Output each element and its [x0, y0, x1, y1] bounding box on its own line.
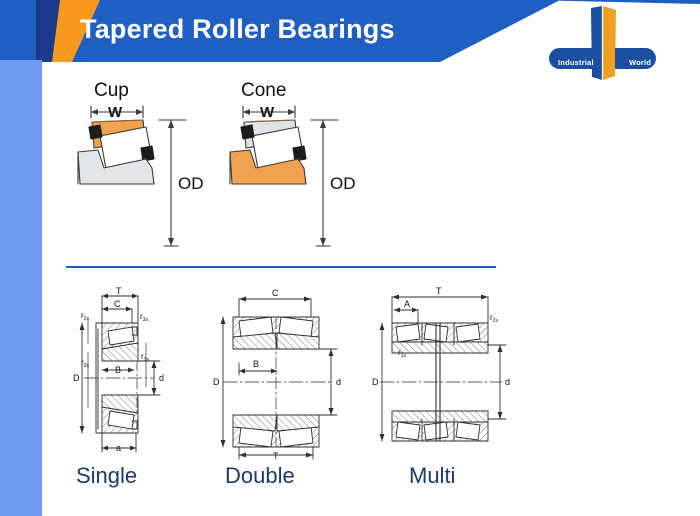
- figure-cup: W OD: [60, 96, 220, 256]
- left-color-band: [0, 60, 42, 516]
- label-d-outer-double: D: [213, 377, 220, 387]
- label-w-cup: W: [108, 104, 123, 121]
- label-c-single: C: [114, 299, 121, 309]
- label-b-double: B: [253, 359, 259, 369]
- label-r2s-multi: r2s: [490, 313, 498, 324]
- label-d-outer-single: D: [73, 373, 80, 383]
- figure-caption-multi: Multi: [409, 463, 455, 489]
- label-t-double: T: [273, 451, 279, 461]
- label-a-single: a: [116, 443, 121, 453]
- figure-caption-single: Single: [76, 463, 137, 489]
- cage-block-left: [89, 125, 102, 139]
- label-t-single: T: [116, 286, 122, 296]
- logo-label-industrial: Industrial: [558, 58, 594, 67]
- dimension-c-double: [239, 297, 311, 318]
- figure-multi: T A D d r2s r1s: [368, 283, 518, 463]
- label-d-bore-multi: d: [505, 377, 510, 387]
- cage-block-right: [141, 146, 154, 161]
- cage-block-left: [241, 125, 254, 139]
- label-t-multi: T: [436, 286, 442, 296]
- roller-bottom-3: [456, 422, 480, 440]
- figure-double: C B D d T: [207, 283, 347, 463]
- label-od-cone: OD: [330, 174, 356, 193]
- figure-cone: W OD: [212, 96, 372, 256]
- page-title: Tapered Roller Bearings: [80, 14, 395, 45]
- slide-root: Tapered Roller Bearings Industrial World…: [0, 0, 700, 516]
- logo-label-world: World: [629, 58, 651, 67]
- label-d-bore-double: d: [336, 377, 341, 387]
- cage-block-right: [293, 146, 306, 161]
- label-od-cup: OD: [178, 174, 204, 193]
- label-d-bore-single: d: [159, 373, 164, 383]
- roller-bottom-1: [396, 422, 420, 440]
- brand-logo: Industrial World: [545, 4, 660, 84]
- label-r3s-b-single: r3s: [140, 312, 148, 323]
- section-divider: [66, 266, 496, 268]
- figure-single: T C B D d a r2s r3s r3s r1s: [62, 283, 212, 463]
- label-r2s-single: r2s: [81, 311, 89, 322]
- label-c-double: C: [272, 288, 279, 298]
- figure-caption-double: Double: [225, 463, 295, 489]
- roller-top-3: [456, 324, 480, 342]
- label-b-single: B: [115, 365, 121, 375]
- label-a-multi: A: [404, 299, 410, 309]
- label-w-cone: W: [260, 104, 275, 121]
- dimension-a-multi: [394, 308, 418, 324]
- label-d-outer-multi: D: [372, 377, 379, 387]
- roller-top-1: [396, 324, 420, 342]
